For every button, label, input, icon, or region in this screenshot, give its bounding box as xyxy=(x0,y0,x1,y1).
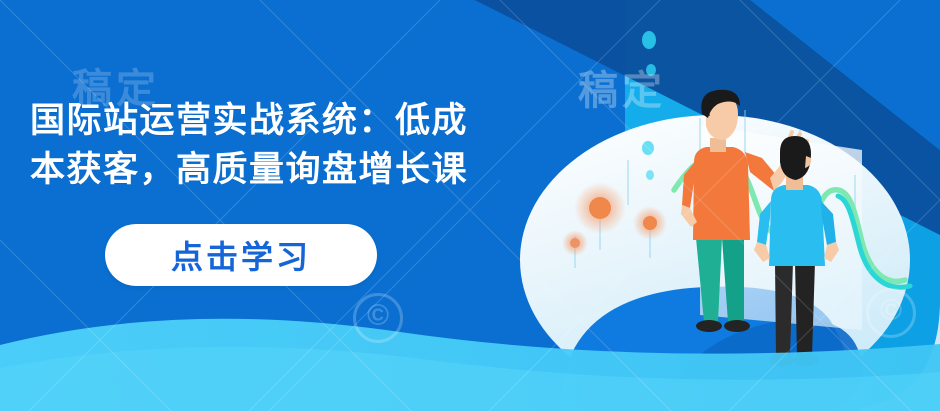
course-banner: 稿定 稿定 © © 国际站运营实战系统：低成 本获客，高质量询盘增长课 点击学习 xyxy=(0,0,940,411)
background-illustration xyxy=(0,0,940,411)
title-line-1: 国际站运营实战系统：低成 xyxy=(30,96,630,145)
cta-button-label: 点击学习 xyxy=(171,232,311,278)
title-line-2: 本获客，高质量询盘增长课 xyxy=(30,145,630,194)
banner-title: 国际站运营实战系统：低成 本获客，高质量询盘增长课 xyxy=(30,96,630,194)
click-to-learn-button[interactable]: 点击学习 xyxy=(105,224,377,286)
